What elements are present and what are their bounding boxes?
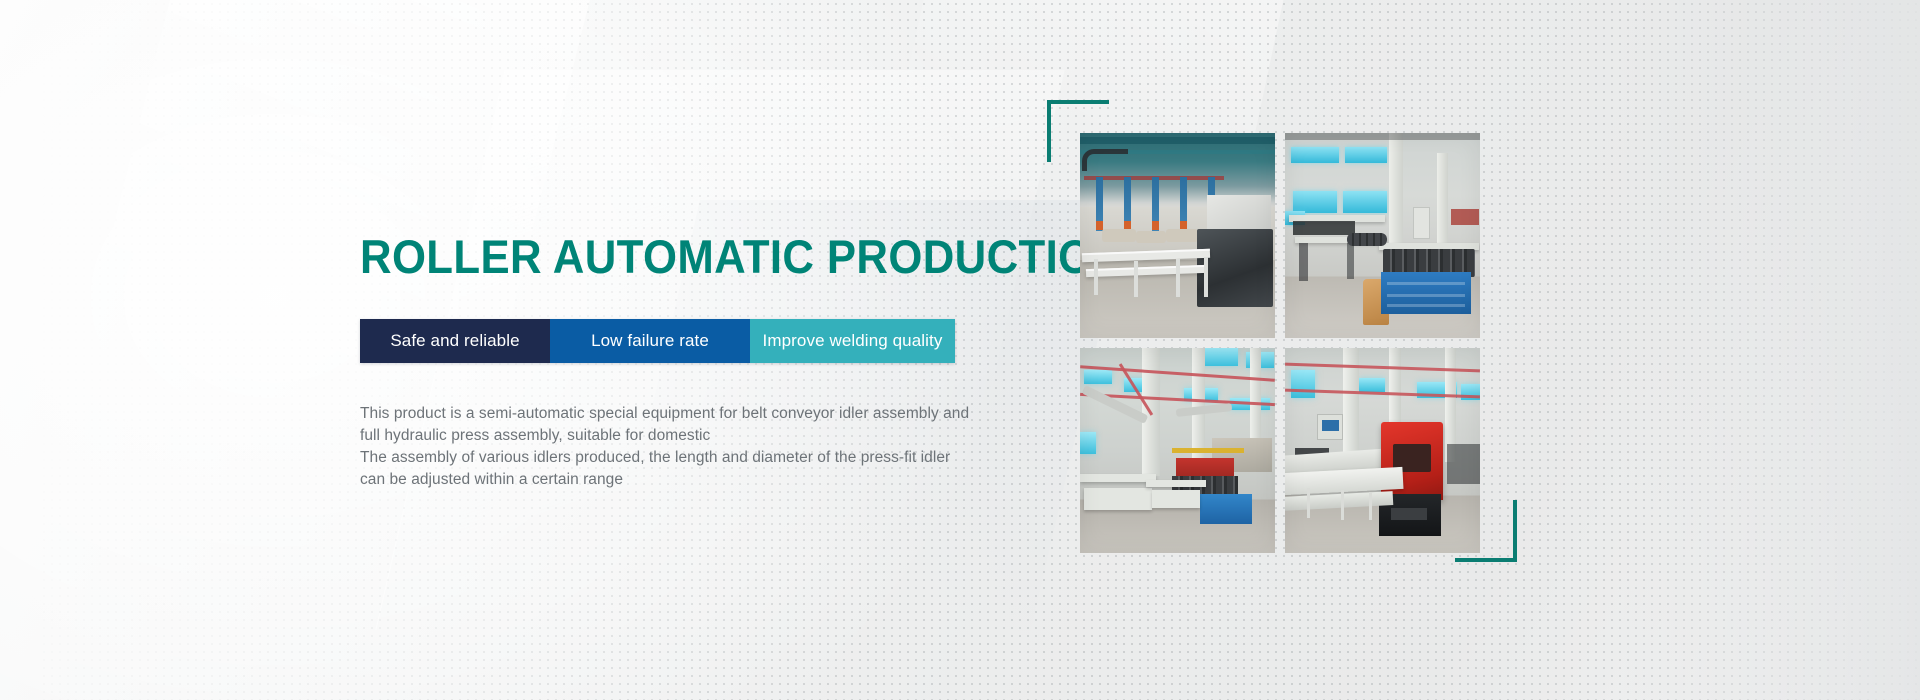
work-bench <box>1080 474 1156 482</box>
control-cabinet <box>1413 207 1430 239</box>
table-leg <box>1134 261 1138 297</box>
factory-window <box>1285 211 1305 225</box>
blue-column <box>1096 177 1103 231</box>
table-leg <box>1176 259 1180 297</box>
bench-equipment <box>1293 221 1355 235</box>
red-machine <box>1176 458 1234 484</box>
factory-window <box>1080 432 1096 454</box>
idler-rollers-crate-photo[interactable] <box>1285 133 1480 338</box>
support-pillar <box>1389 348 1401 428</box>
feature-tag-safe-and-reliable[interactable]: Safe and reliable <box>360 319 550 363</box>
bracket-vertical-stroke <box>1047 100 1051 162</box>
feed-table <box>1285 448 1390 475</box>
support-pillar <box>1343 348 1359 468</box>
factory-window <box>1291 370 1315 398</box>
wall-rail <box>1084 176 1224 180</box>
factory-window <box>1184 388 1218 401</box>
overhead-pipe <box>1082 149 1128 171</box>
factory-window <box>1293 191 1337 213</box>
machine-unit <box>1447 444 1480 484</box>
bench-leg <box>1299 243 1308 281</box>
blue-steel-crate <box>1200 494 1252 524</box>
blue-column <box>1124 177 1131 231</box>
table-leg <box>1094 259 1098 295</box>
table-leg <box>1369 492 1372 520</box>
background-vignette-right <box>1620 0 1920 700</box>
roof-beam <box>1080 150 1275 154</box>
idler-roller-bundle <box>1347 233 1387 246</box>
factory-window <box>1359 378 1385 392</box>
idler-roller-stack <box>1383 249 1475 277</box>
machine-cabinet <box>1207 195 1271 239</box>
machine-unit <box>1295 448 1329 466</box>
work-bench <box>1084 488 1152 510</box>
yellow-guard-rail <box>1172 448 1244 453</box>
description-line: can be adjusted within a certain range <box>360 469 1020 491</box>
factory-window <box>1417 382 1457 398</box>
support-pillar <box>1142 348 1160 476</box>
blue-column <box>1152 177 1159 231</box>
air-duct <box>1082 385 1149 424</box>
factory-window <box>1343 191 1387 213</box>
description-line: This product is a semi-automatic special… <box>360 403 1020 425</box>
table-leg <box>1341 490 1344 520</box>
roof-beam <box>1080 137 1275 144</box>
table-leg <box>1204 257 1208 297</box>
red-hydraulic-press-photo[interactable] <box>1285 348 1480 553</box>
hero-text-column: ROLLER AUTOMATIC PRODUCTION LINE Safe an… <box>360 232 1020 491</box>
overhead-pipe <box>1080 393 1275 406</box>
support-pillar <box>1192 348 1205 468</box>
metal-slab <box>1212 438 1272 472</box>
factory-window <box>1345 147 1387 163</box>
material-bag <box>1166 229 1198 242</box>
air-duct <box>1176 403 1233 417</box>
overhead-pipe <box>1119 363 1153 415</box>
overhead-pipe <box>1285 389 1480 399</box>
overhead-pipe <box>1080 365 1275 382</box>
assembly-workshop-photo[interactable] <box>1080 348 1275 553</box>
work-bench <box>1146 480 1206 487</box>
support-pillar <box>1250 348 1261 458</box>
blue-column <box>1208 177 1215 231</box>
blue-steel-crate <box>1381 272 1471 314</box>
work-bench <box>1295 237 1387 243</box>
work-bench <box>1152 490 1200 508</box>
factory-window <box>1246 352 1274 368</box>
conveyor-table <box>1086 265 1206 277</box>
work-bench <box>1289 215 1385 222</box>
factory-window <box>1084 370 1112 384</box>
press-jaw <box>1393 444 1431 472</box>
roller-conveyor-line-photo[interactable] <box>1080 133 1275 338</box>
factory-window <box>1230 398 1270 410</box>
factory-window <box>1198 348 1238 366</box>
feature-tag-improve-welding-quality[interactable]: Improve welding quality <box>750 319 955 363</box>
conveyor-rail <box>1285 467 1403 495</box>
material-sack <box>1363 279 1389 325</box>
red-press-frame <box>1381 422 1443 500</box>
red-equipment <box>1451 209 1479 225</box>
page-title: ROLLER AUTOMATIC PRODUCTION LINE <box>360 232 974 281</box>
press-unit <box>1197 229 1273 307</box>
feature-tag-low-failure-rate[interactable]: Low failure rate <box>550 319 750 363</box>
product-description: This product is a semi-automatic special… <box>360 403 1020 491</box>
support-pillar <box>1445 348 1456 462</box>
bracket-horizontal-stroke <box>1047 100 1109 104</box>
bracket-vertical-stroke <box>1513 500 1517 562</box>
roof-beam <box>1285 133 1480 140</box>
table-leg <box>1307 488 1310 518</box>
bracket-horizontal-stroke <box>1455 558 1517 562</box>
work-bench <box>1379 243 1479 250</box>
support-pillar <box>1389 133 1403 243</box>
blue-column <box>1180 177 1187 231</box>
overhead-pipe <box>1285 363 1480 373</box>
control-panel <box>1317 414 1343 440</box>
description-line: full hydraulic press assembly, suitable … <box>360 425 1020 447</box>
idler-roller-stack <box>1172 476 1238 494</box>
factory-window <box>1461 384 1480 400</box>
description-line: The assembly of various idlers produced,… <box>360 447 1020 469</box>
conveyor-rail <box>1285 491 1393 511</box>
conveyor-table <box>1082 249 1210 262</box>
bench-leg <box>1347 243 1354 279</box>
factory-window <box>1291 147 1339 163</box>
factory-window <box>1124 378 1154 392</box>
support-pillar <box>1437 153 1448 249</box>
material-bag <box>1102 229 1136 242</box>
material-bag <box>1136 231 1166 243</box>
product-photo-gallery <box>1080 133 1480 553</box>
feature-tag-bar: Safe and reliable Low failure rate Impro… <box>360 319 955 363</box>
press-base <box>1379 494 1441 536</box>
